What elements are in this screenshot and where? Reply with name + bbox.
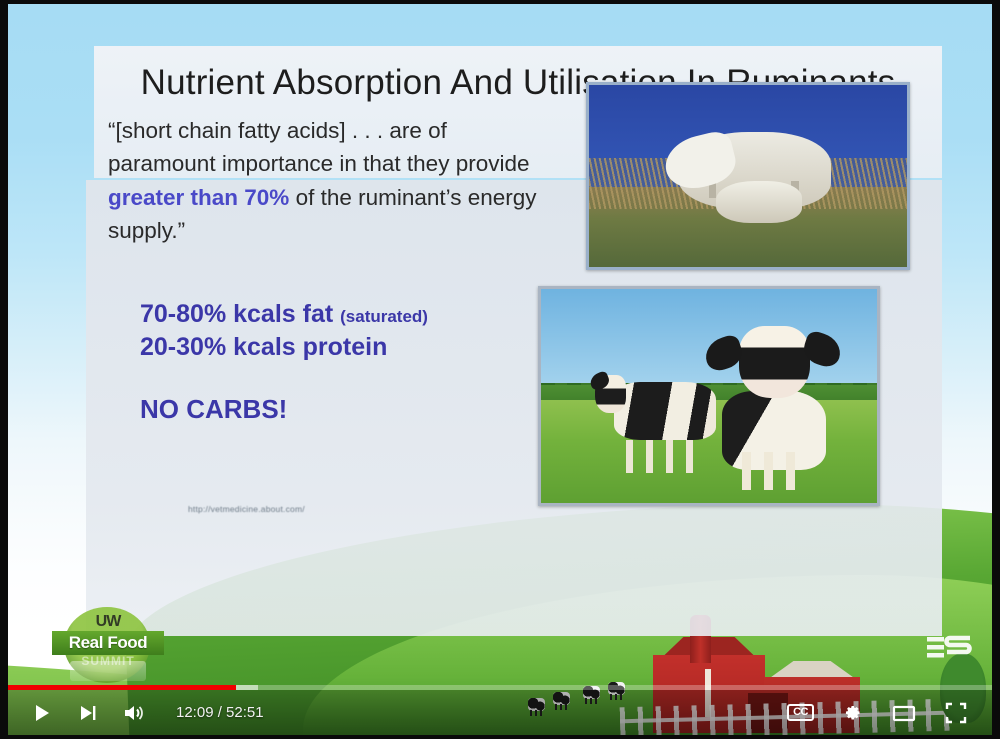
bullet-protein-main: 20-30% kcals protein	[140, 333, 387, 361]
volume-button[interactable]	[120, 699, 148, 727]
slide-bullets: 70-80% kcals fat (saturated) 20-30% kcal…	[140, 298, 560, 426]
gear-icon	[841, 702, 863, 724]
es-watermark-icon	[926, 633, 972, 663]
controls-left-group: 12:09 / 52:51	[8, 699, 264, 727]
logo-farm-graphic	[70, 661, 146, 681]
cow-back-legs	[626, 440, 694, 473]
logo-main-text: Real Food	[69, 633, 148, 653]
slide-source-credit: http://vetmedicine.about.com/	[188, 504, 305, 514]
play-button[interactable]	[28, 699, 56, 727]
fullscreen-icon	[945, 702, 967, 724]
presentation-slide: Nutrient Absorption And Utilisation In R…	[78, 46, 938, 636]
fullscreen-button[interactable]	[942, 699, 970, 727]
next-icon	[78, 703, 98, 723]
settings-button[interactable]	[838, 699, 866, 727]
quote-part-1: “[short chain fatty acids] . . . are of …	[108, 118, 530, 176]
holstein-cows-photo	[538, 286, 880, 506]
logo-band: Real Food	[52, 631, 164, 655]
controls-right-group: CC	[787, 699, 992, 727]
sheep-with-lamb-photo	[586, 82, 910, 270]
theater-icon	[892, 703, 916, 723]
volume-icon	[123, 703, 145, 723]
next-video-button[interactable]	[74, 699, 102, 727]
cow-back-body	[614, 382, 716, 440]
play-icon	[32, 703, 52, 723]
time-display: 12:09 / 52:51	[176, 704, 264, 721]
cow-front-legs	[742, 452, 807, 490]
bullet-fat-main: 70-80% kcals fat	[140, 300, 340, 328]
theater-mode-button[interactable]	[890, 699, 918, 727]
cow-background-animal	[595, 362, 716, 473]
bullet-fat: 70-80% kcals fat (saturated)	[140, 298, 560, 331]
slide-quote: “[short chain fatty acids] . . . are of …	[108, 114, 548, 247]
player-controls-bar: 12:09 / 52:51 CC	[8, 690, 992, 735]
bullet-protein: 20-30% kcals protein	[140, 331, 560, 364]
logo-uw-text: UW	[52, 613, 164, 631]
video-player: Nutrient Absorption And Utilisation In R…	[0, 0, 1000, 739]
es-watermark-logo	[926, 633, 972, 663]
real-food-summit-logo: UW Real Food SUMMIT	[52, 607, 164, 683]
captions-button[interactable]: CC	[787, 704, 814, 721]
slide-emphasis: NO CARBS!	[140, 392, 560, 426]
lamb-body	[716, 181, 802, 223]
cow-foreground-animal	[702, 319, 843, 490]
bullet-fat-sub: (saturated)	[340, 307, 428, 326]
video-viewport[interactable]: Nutrient Absorption And Utilisation In R…	[8, 4, 992, 735]
cow-front-head	[739, 326, 810, 398]
quote-highlight: greater than 70%	[108, 185, 289, 210]
